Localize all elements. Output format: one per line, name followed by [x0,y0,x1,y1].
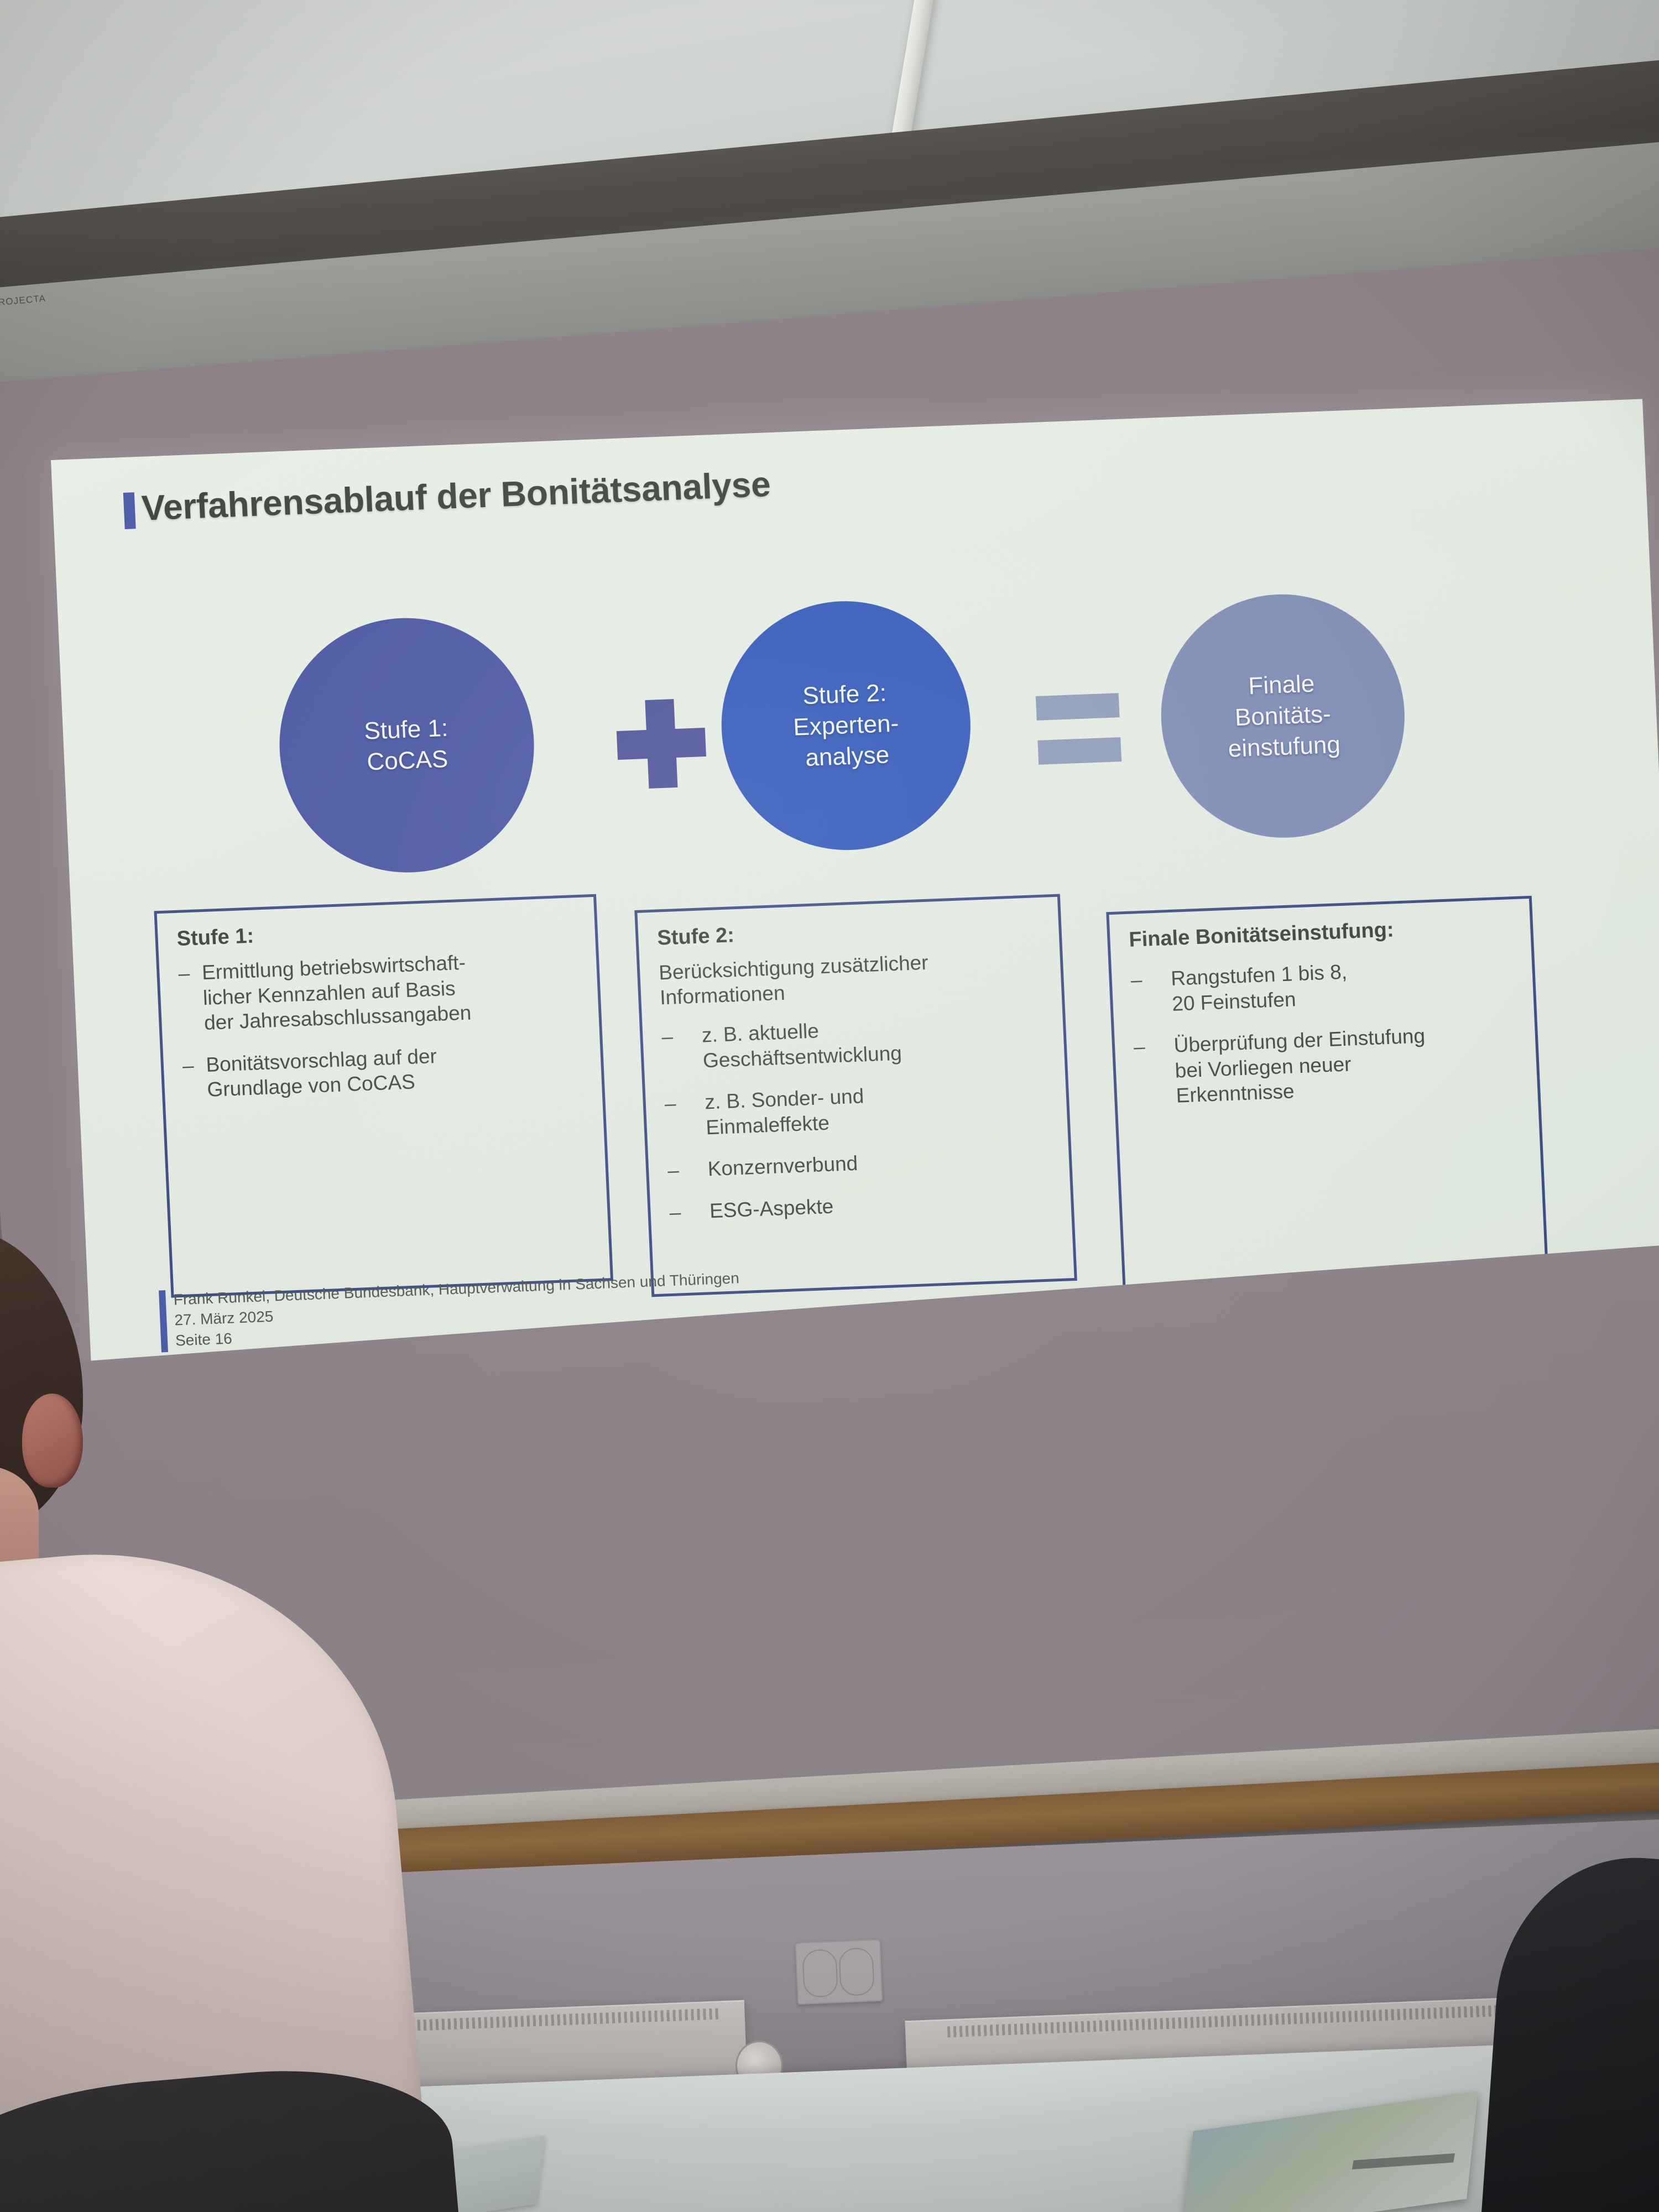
bullet-dash: – [661,1024,675,1075]
circle-stufe-2-line2: Experten- [792,708,899,743]
slide-title-row: Verfahrensablauf der Bonitätsanalyse [123,466,771,529]
circle-stufe-1-line2: CoCAS [366,744,448,778]
list-item: – Rangstufen 1 bis 8, 20 Feinstufen [1130,953,1517,1018]
list-item: – Konzernverbund [667,1144,1053,1183]
plus-icon [615,698,707,790]
bullet-text: Ermittlung betriebswirtschaft- licher Ke… [201,950,472,1036]
room-photograph: PROJECTA Verfahrensablauf der Bonitätsan… [0,0,1659,2212]
list-item: – Ermittlung betriebswirtschaft- licher … [178,946,583,1036]
bullet-dash: – [178,961,193,1036]
box-finale-heading: Finale Bonitätseinstufung: [1129,914,1514,952]
box-stufe-2-bullets: – z. B. aktuelle Geschäftsentwicklung – … [661,1010,1055,1225]
circle-stufe-1-line1: Stufe 1: [363,712,448,747]
circle-finale-line2: Bonitäts- [1234,698,1332,733]
circle-finale-einstufung: Finale Bonitäts- einstufung [1156,590,1410,842]
circle-finale-line1: Finale [1248,668,1315,702]
attendee-foreground-left [0,1228,354,2212]
box-finale-bullets: – Rangstufen 1 bis 8, 20 Feinstufen – Üb… [1130,953,1521,1110]
list-item: – Überprüfung der Einstufung bei Vorlieg… [1133,1020,1521,1110]
box-finale-einstufung: Finale Bonitätseinstufung: – Rangstufen … [1106,896,1548,1293]
circle-stufe-2-line1: Stufe 2: [802,677,887,712]
bullet-dash: – [182,1052,196,1103]
box-stufe-1-bullets: – Ermittlung betriebswirtschaft- licher … [178,946,586,1103]
power-outlet [795,1939,883,2005]
box-stufe-2: Stufe 2: Berücksichtigung zusätzlicher I… [634,894,1077,1297]
bullet-dash: – [664,1091,678,1142]
circle-stufe-1: Stufe 1: CoCAS [274,613,540,877]
box-stufe-2-heading: Stufe 2: [657,912,1042,951]
bullet-text: z. B. Sonder- und Einmaleffekte [704,1084,865,1140]
bullet-dash: – [1130,967,1144,1018]
bullet-dash: – [667,1158,680,1183]
bullet-text: Bonitätsvorschlag auf der Grundlage von … [205,1044,438,1103]
attendee-ear [22,1394,83,1488]
title-accent-bar [123,492,136,529]
bullet-dash: – [669,1199,682,1225]
list-item: – z. B. aktuelle Geschäftsentwicklung [661,1010,1048,1075]
bullet-text: Konzernverbund [707,1151,858,1182]
circle-finale-line3: einstufung [1228,729,1341,765]
list-item: – z. B. Sonder- und Einmaleffekte [664,1077,1051,1142]
equals-icon [1036,693,1121,765]
bullet-text: ESG-Aspekte [709,1193,834,1223]
circle-stufe-2: Stufe 2: Experten- analyse [716,597,976,855]
box-stufe-1-heading: Stufe 1: [176,912,578,951]
list-item: – ESG-Aspekte [669,1185,1055,1225]
circle-stufe-2-line3: analyse [805,739,890,774]
box-stufe-2-lead: Berücksichtigung zusätzlicher Informatio… [658,946,1045,1010]
bullet-dash: – [1133,1034,1148,1110]
list-item: – Bonitätsvorschlag auf der Grundlage vo… [182,1037,586,1103]
bullet-text: Überprüfung der Einstufung bei Vorliegen… [1173,1023,1428,1108]
process-flow-diagram: Stufe 1: CoCAS Stufe 2: Experten- analys… [58,565,1659,891]
page-title: Verfahrensablauf der Bonitätsanalyse [141,466,771,527]
bullet-text: Rangstufen 1 bis 8, 20 Feinstufen [1170,959,1349,1016]
bullet-text: z. B. aktuelle Geschäftsentwicklung [701,1015,902,1073]
